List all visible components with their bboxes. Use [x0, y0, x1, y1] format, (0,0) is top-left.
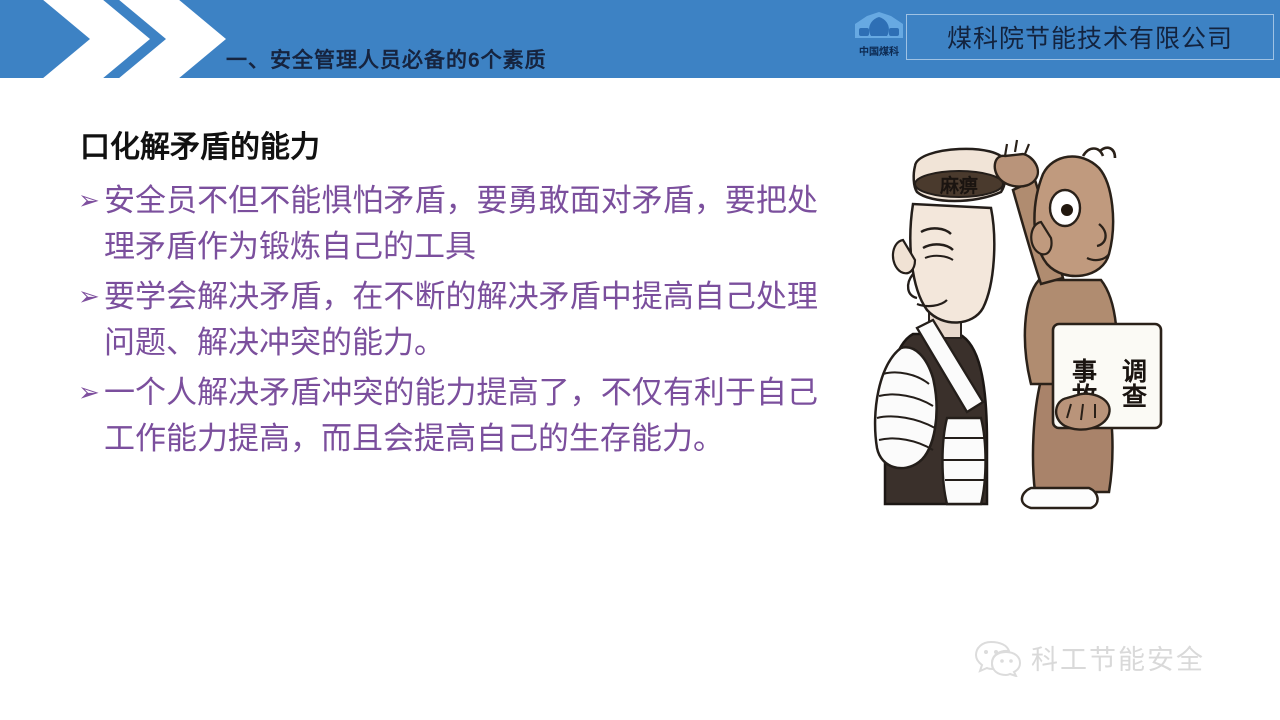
list-item: ➢ 一个人解决矛盾冲突的能力提高了，不仅有利于自己工作能力提高，而且会提高自己的…: [78, 370, 818, 462]
arrow-bullet-icon: ➢: [78, 178, 104, 223]
wechat-icon: [975, 639, 1021, 677]
svg-text:麻痹: 麻痹: [939, 174, 978, 197]
page-title: 一、安全管理人员必备的6个素质: [226, 44, 746, 74]
header-band: 一、安全管理人员必备的6个素质 中国煤科 煤科院节能技术有限公司: [0, 0, 1280, 78]
section-heading: 口化解矛盾的能力: [80, 128, 818, 168]
arrow-bullet-icon: ➢: [78, 370, 104, 415]
heading-label: 化解矛盾的能力: [110, 131, 320, 164]
company-name-box: 煤科院节能技术有限公司: [906, 14, 1274, 60]
wechat-watermark: 科工节能安全: [975, 638, 1205, 677]
content-body: 口化解矛盾的能力 ➢ 安全员不但不能惧怕矛盾，要勇敢面对矛盾，要把处理矛盾作为锻…: [78, 128, 818, 466]
coal-emblem-icon: [845, 10, 913, 48]
cartoon-illustration: 麻痹: [855, 112, 1185, 512]
list-item-text: 安全员不但不能惧怕矛盾，要勇敢面对矛盾，要把处理矛盾作为锻炼自己的工具: [104, 178, 818, 270]
list-item: ➢ 安全员不但不能惧怕矛盾，要勇敢面对矛盾，要把处理矛盾作为锻炼自己的工具: [78, 178, 818, 270]
heading-box-bullet: 口: [80, 131, 110, 164]
list-item: ➢ 要学会解决矛盾，在不断的解决矛盾中提高自己处理问题、解决冲突的能力。: [78, 274, 818, 366]
logo-caption: 中国煤科: [845, 47, 913, 59]
list-item-text: 一个人解决矛盾冲突的能力提高了，不仅有利于自己工作能力提高，而且会提高自己的生存…: [104, 370, 818, 462]
watermark-text: 科工节能安全: [1031, 638, 1205, 677]
svg-text:调查: 调查: [1119, 358, 1148, 408]
list-item-text: 要学会解决矛盾，在不断的解决矛盾中提高自己处理问题、解决冲突的能力。: [104, 274, 818, 366]
arrow-bullet-icon: ➢: [78, 274, 104, 319]
company-name: 煤科院节能技术有限公司: [947, 19, 1233, 55]
company-logo: 中国煤科: [845, 10, 913, 68]
slide-canvas: 一、安全管理人员必备的6个素质 中国煤科 煤科院节能技术有限公司 口化解矛盾的能…: [0, 0, 1280, 720]
